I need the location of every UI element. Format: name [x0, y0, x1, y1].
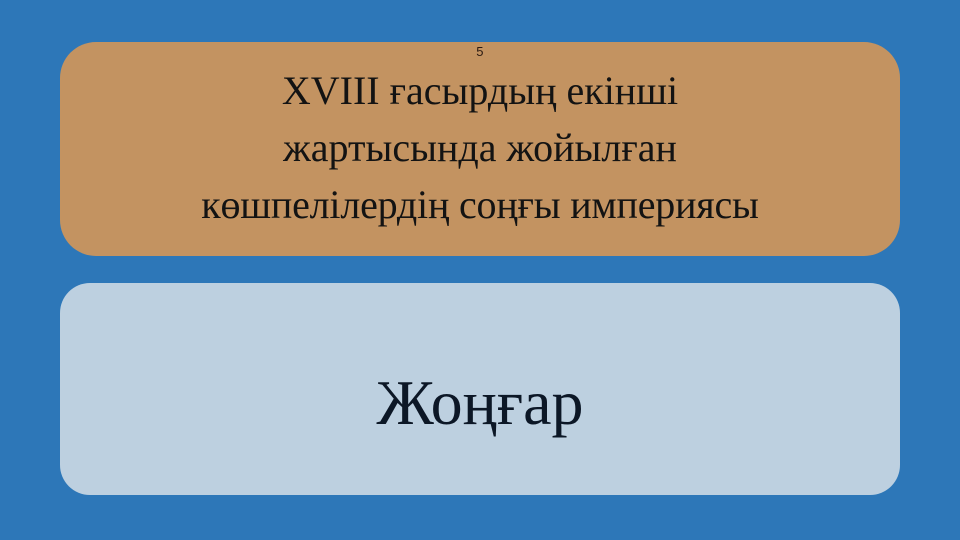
question-line-1: XVIII ғасырдың екінші [60, 62, 900, 119]
question-line-2: жартысында жойылған [60, 119, 900, 176]
quiz-slide: 5 XVIII ғасырдың екінші жартысында жойыл… [0, 0, 960, 540]
question-card[interactable]: 5 XVIII ғасырдың екінші жартысында жойыл… [60, 42, 900, 256]
slide-number: 5 [60, 44, 900, 60]
answer-text: Жоңғар [60, 367, 900, 439]
answer-card[interactable]: Жоңғар [60, 283, 900, 495]
question-line-3: көшпелілердің соңғы империясы [60, 176, 900, 233]
question-text: XVIII ғасырдың екінші жартысында жойылға… [60, 62, 900, 233]
